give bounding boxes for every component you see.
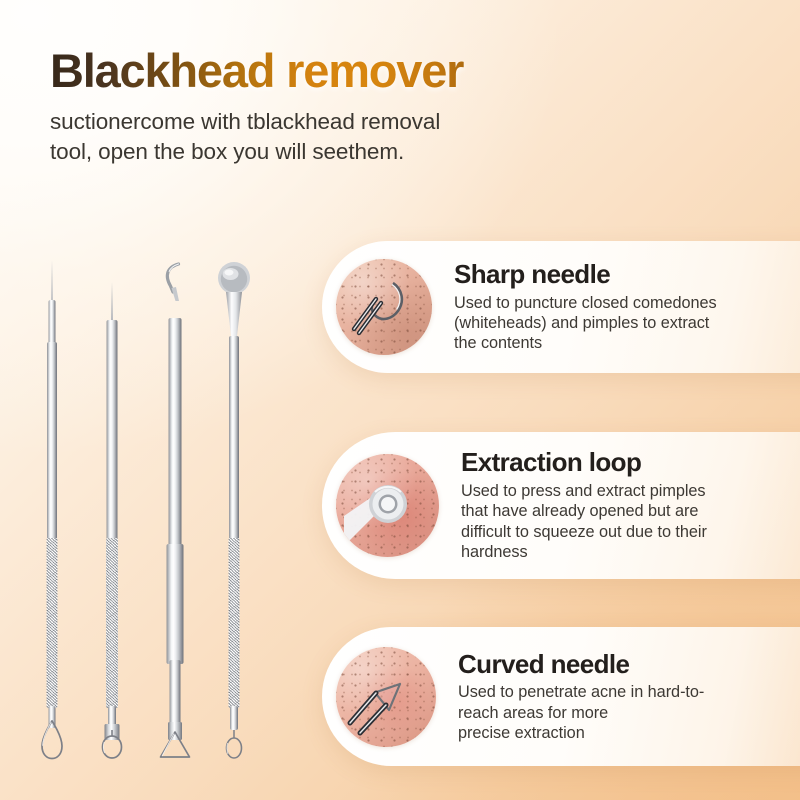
tool-shaft (170, 660, 181, 726)
tool-shaft (230, 706, 238, 730)
tool-shaft (47, 342, 57, 542)
description-line: hardness (461, 542, 707, 562)
subtitle-line-1: suctionercome with tblackhead removal (50, 107, 670, 137)
triangle-tool-overlay-icon (336, 647, 436, 747)
feature-text: Sharp needle Used to puncture closed com… (454, 260, 747, 354)
loop-round-icon (99, 730, 125, 760)
subtitle-line-2: tool, open the box you will seethem. (50, 137, 670, 167)
tool-shaft (169, 318, 182, 546)
page-title: Blackhead remover (50, 46, 670, 96)
description-line: difficult to squeeze out due to their (461, 522, 707, 542)
header: Blackhead remover suctionercome with tbl… (50, 46, 670, 167)
description-line: (whiteheads) and pimples to extract (454, 313, 717, 333)
feature-card-curved-needle[interactable]: Curved needle Used to penetrate acne in … (322, 627, 800, 766)
tool-sharp-needle (32, 260, 72, 760)
loop-triangle-icon (157, 730, 193, 760)
feature-text: Extraction loop Used to press and extrac… (461, 448, 737, 562)
tool-thick-needle (92, 260, 132, 760)
tool-curved-hook (152, 260, 198, 760)
description-line: precise extraction (458, 723, 704, 743)
feature-text: Curved needle Used to penetrate acne in … (458, 650, 734, 744)
curved-needle-photo (336, 647, 436, 747)
tool-shaft (229, 336, 239, 542)
feature-card-extraction-loop[interactable]: Extraction loop Used to press and extrac… (322, 432, 800, 579)
description-line: that have already opened but are (461, 501, 707, 521)
tool-grip (47, 538, 58, 708)
description-line: Used to puncture closed comedones (454, 293, 717, 313)
tool-shaft (49, 300, 56, 344)
description-line: Used to penetrate acne in hard-to- (458, 682, 704, 702)
description-line: the contents (454, 333, 717, 353)
tool-shaft-taper (167, 544, 184, 664)
extraction-loop-photo (336, 454, 439, 557)
feature-description: Used to puncture closed comedones (white… (454, 293, 717, 354)
tool-grip (229, 538, 240, 708)
tool-grip (106, 538, 118, 708)
tool-shaft (108, 706, 116, 726)
sharp-needle-photo (336, 259, 432, 355)
tools-illustration (0, 240, 310, 760)
page-subtitle: suctionercome with tblackhead removal to… (50, 107, 670, 167)
spoon-neck (217, 292, 251, 338)
tool-round-spoon (212, 260, 256, 760)
loop-small-oval-icon (222, 730, 246, 760)
feature-card-sharp-needle[interactable]: Sharp needle Used to puncture closed com… (322, 241, 800, 373)
feature-description: Used to press and extract pimples that h… (461, 481, 707, 562)
feature-heading: Extraction loop (461, 448, 707, 477)
feature-description: Used to penetrate acne in hard-to- reach… (458, 682, 704, 743)
feature-heading: Curved needle (458, 650, 704, 679)
feature-heading: Sharp needle (454, 260, 717, 289)
description-line: reach areas for more (458, 703, 704, 723)
loop-teardrop-icon (39, 720, 65, 760)
tool-shaft (107, 320, 118, 542)
loop-tool-overlay-icon (336, 259, 432, 355)
needle-tip-icon (111, 282, 113, 322)
ring-tool-overlay-icon (336, 454, 439, 557)
description-line: Used to press and extract pimples (461, 481, 707, 501)
